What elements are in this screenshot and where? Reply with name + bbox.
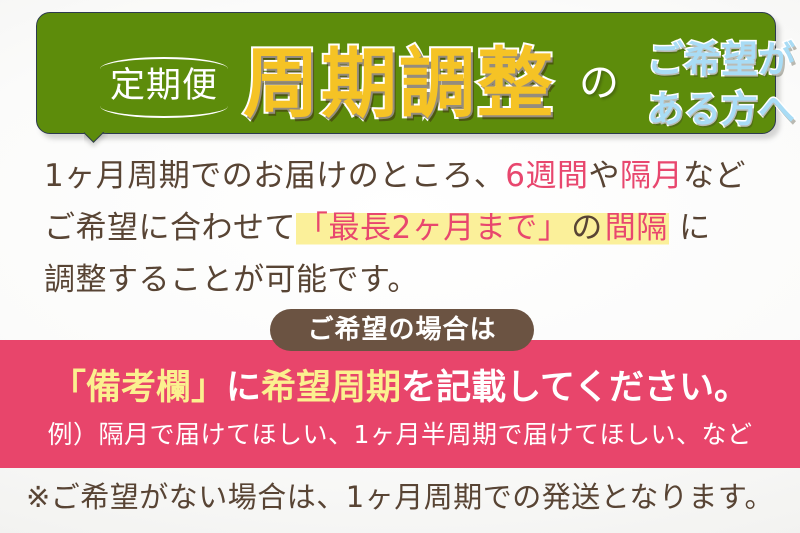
pink-callout-band: 「備考欄」に希望周期を記載してください。 例）隔月で届けてほしい、1ヶ月半周期で… [0,340,800,468]
default-shipping-note: ※ご希望がない場合は、1ヶ月周期での発送となります。 [0,476,800,518]
para-seg-interval: 間隔 [604,210,669,246]
speech-bubble-tail [84,132,108,150]
para-seg-1: 1ヶ月周期でのお届けのところ、 [44,158,505,194]
band-example-text: 例）隔月で届けてほしい、1ヶ月半周期で届けてほしい、など [0,418,800,452]
request-case-pill: ご希望の場合は [270,309,534,351]
band-remarks-field: 「備考欄」 [51,368,226,408]
para-seg-nado: など [683,158,746,194]
request-case-pill-label: ご希望の場合は [307,315,496,345]
band-ni: に [226,368,261,408]
description-paragraph: 1ヶ月周期でのお届けのところ、6週間や隔月などご希望に合わせて「最長2ヶ月まで」… [44,150,774,306]
wish-target-text: ご希望が ある方へ [635,35,800,135]
para-seg-bimonthly: 隔月 [620,158,683,194]
green-speech-bubble: 定期便 周期調整 の ご希望が ある方へ [36,12,776,134]
para-seg-maxperiod: 「最長2ヶ月まで」 [296,210,570,246]
subscription-badge-label: 定期便 [110,64,218,108]
band-desired-cycle: 希望周期 [261,368,401,408]
band-main-text: 「備考欄」に希望周期を記載してください。 [0,364,800,412]
subscription-badge: 定期便 [91,39,237,133]
swash-line-top [100,55,228,64]
para-seg-ni: に [669,210,711,246]
para-seg-6weeks: 6週間 [505,158,588,194]
para-seg-ya: や [588,158,620,194]
para-seg-no: の [570,210,604,246]
para-seg-request: ご希望に合わせて [44,210,296,246]
connector-particle: の [579,57,619,109]
headline-text: 周期調整 [243,30,555,138]
promo-banner: 定期便 周期調整 の ご希望が ある方へ 1ヶ月周期でのお届けのところ、6週間や… [0,0,800,533]
para-seg-adjustable: 調整することが可能です。 [44,262,419,298]
band-please-write: を記載してください。 [401,368,749,408]
swash-line-bottom [100,108,228,117]
wish-line-1: ご希望が [635,35,800,85]
wish-line-2: ある方へ [635,85,800,135]
